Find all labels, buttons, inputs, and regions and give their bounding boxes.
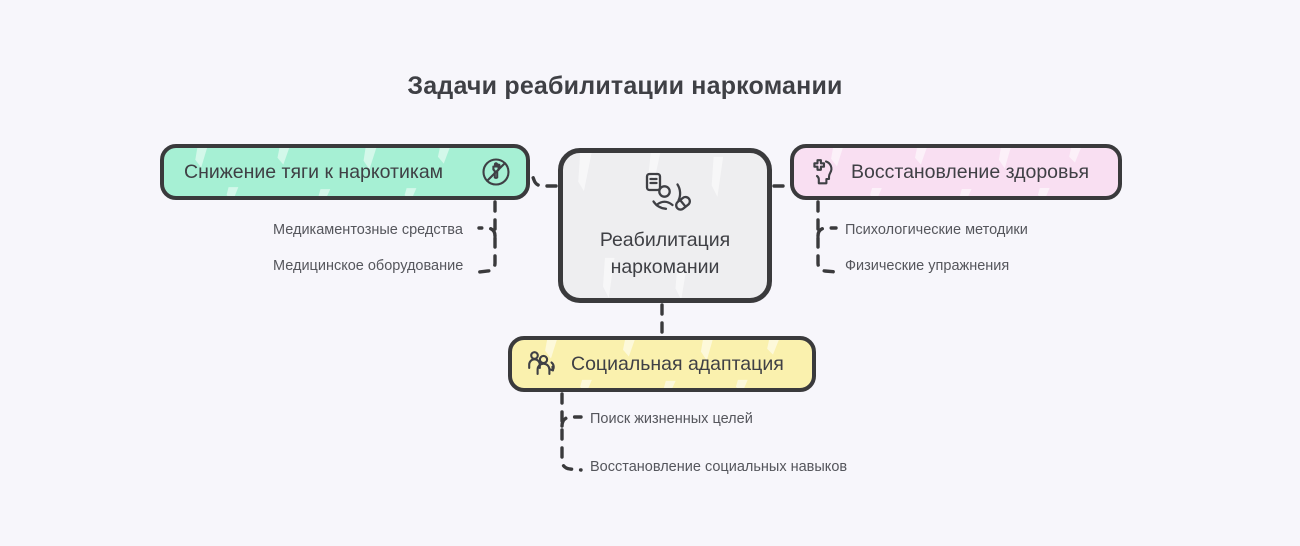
node-health-recovery[interactable]: Восстановление здоровья bbox=[790, 144, 1122, 200]
node-center-rehabilitation[interactable]: Реабилитация наркомании bbox=[558, 148, 772, 303]
node-craving-reduction[interactable]: Снижение тяги к наркотикам bbox=[160, 144, 530, 200]
node-health-label: Восстановление здоровья bbox=[851, 160, 1089, 184]
connector-social-child-1 bbox=[562, 417, 581, 426]
leaf-craving-child-1: Медикаментозные средства bbox=[273, 223, 463, 238]
node-social-label: Социальная адаптация bbox=[571, 352, 784, 376]
connector-craving-child-1 bbox=[479, 228, 495, 236]
mindmap-canvas: Задачи реабилитации наркомании bbox=[0, 0, 1300, 546]
leaf-health-child-1: Психологические методики bbox=[845, 223, 1028, 238]
node-center-label-line2: наркомании bbox=[600, 254, 730, 280]
connector-health-child-1 bbox=[818, 228, 836, 236]
node-center-label-line1: Реабилитация bbox=[600, 227, 730, 253]
leaf-health-child-2: Физические упражнения bbox=[845, 259, 1009, 274]
connector-health-spine bbox=[818, 202, 836, 272]
connector-craving-spine bbox=[479, 202, 495, 272]
leaf-craving-child-2: Медицинское оборудование bbox=[273, 259, 463, 274]
node-social-adaptation[interactable]: Социальная адаптация bbox=[508, 336, 816, 392]
person-document-pill-icon bbox=[637, 171, 693, 217]
no-drugs-icon bbox=[480, 156, 512, 188]
leaf-social-child-2: Восстановление социальных навыков bbox=[590, 460, 847, 475]
connector-social-spine bbox=[562, 394, 581, 470]
page-title: Задачи реабилитации наркомании bbox=[0, 72, 1250, 101]
leaf-social-child-1: Поиск жизненных целей bbox=[590, 412, 753, 427]
connector-center-to-craving bbox=[531, 172, 556, 186]
head-health-plus-icon bbox=[808, 156, 840, 188]
people-group-arrow-icon bbox=[526, 348, 560, 380]
node-craving-label: Снижение тяги к наркотикам bbox=[184, 160, 443, 184]
